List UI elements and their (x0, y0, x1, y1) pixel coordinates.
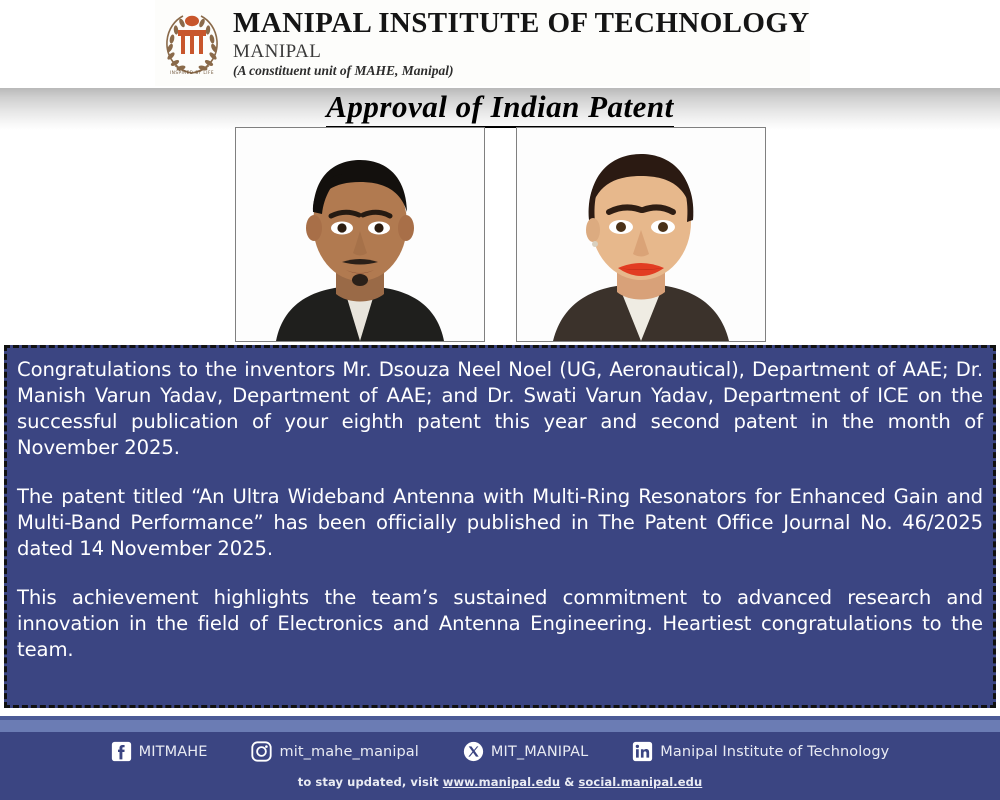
footer-stripe-line (0, 716, 1000, 720)
page-title-wrap: Approval of Indian Patent (0, 89, 1000, 128)
institute-affiliation: (A constituent unit of MAHE, Manipal) (233, 64, 810, 78)
photo-inventor-2 (516, 127, 766, 342)
svg-text:INSPIRED BY LIFE: INSPIRED BY LIFE (170, 70, 214, 75)
body-paragraph-3: This achievement highlights the team’s s… (17, 585, 983, 663)
photo-inventor-1 (235, 127, 485, 342)
social-link-x-twitter[interactable]: MIT_MANIPAL (463, 741, 588, 762)
social-link-instagram[interactable]: mit_mahe_manipal (251, 741, 418, 762)
inventor-photos (0, 127, 1000, 342)
institute-header: INSPIRED BY LIFE MANIPAL INSTITUTE OF TE… (155, 0, 810, 86)
footer-note: to stay updated, visit www.manipal.edu &… (0, 775, 1000, 789)
footer-note-prefix: to stay updated, visit (298, 775, 443, 789)
poster-root: INSPIRED BY LIFE MANIPAL INSTITUTE OF TE… (0, 0, 1000, 800)
announcement-body: Congratulations to the inventors Mr. Dso… (4, 345, 996, 708)
social-label-facebook: MITMAHE (139, 744, 208, 760)
footer: MITMAHE mit_mahe_manipal MIT_MANIPAL (0, 732, 1000, 800)
instagram-icon (251, 741, 272, 762)
x-twitter-icon (463, 741, 484, 762)
footer-link-website[interactable]: www.manipal.edu (443, 775, 560, 789)
social-link-linkedin[interactable]: Manipal Institute of Technology (632, 741, 889, 762)
footer-note-amp: & (560, 775, 578, 789)
body-paragraph-1: Congratulations to the inventors Mr. Dso… (17, 357, 983, 461)
linkedin-icon (632, 741, 653, 762)
manipal-laurel-flame-logo-icon: INSPIRED BY LIFE (161, 10, 223, 78)
header-band: INSPIRED BY LIFE MANIPAL INSTITUTE OF TE… (0, 0, 1000, 88)
facebook-icon (111, 741, 132, 762)
institute-name: MANIPAL INSTITUTE OF TECHNOLOGY (233, 9, 810, 38)
footer-top-stripe (0, 716, 1000, 732)
institute-campus: MANIPAL (233, 42, 810, 61)
page-title: Approval of Indian Patent (326, 89, 674, 128)
body-paragraph-2: The patent titled “An Ultra Wideband Ant… (17, 484, 983, 562)
social-label-x-twitter: MIT_MANIPAL (491, 744, 588, 760)
footer-link-social[interactable]: social.manipal.edu (578, 775, 702, 789)
institute-name-block: MANIPAL INSTITUTE OF TECHNOLOGY MANIPAL … (233, 9, 810, 78)
social-link-facebook[interactable]: MITMAHE (111, 741, 208, 762)
social-links-row: MITMAHE mit_mahe_manipal MIT_MANIPAL (0, 741, 1000, 762)
social-label-instagram: mit_mahe_manipal (279, 744, 418, 760)
social-label-linkedin: Manipal Institute of Technology (660, 744, 889, 760)
